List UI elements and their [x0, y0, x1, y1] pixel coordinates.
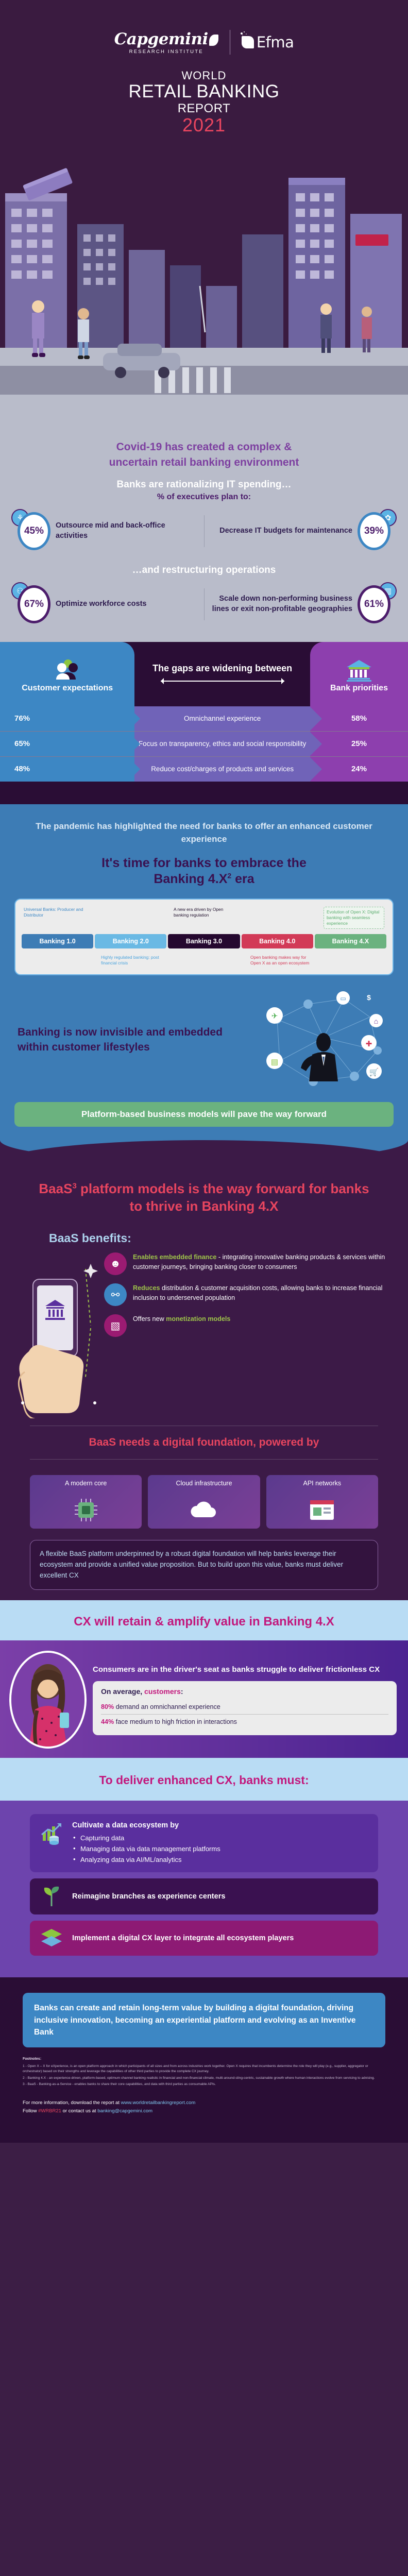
foundation-card-label: A modern core — [30, 1475, 142, 1492]
benefit-highlight: Reduces — [133, 1284, 160, 1292]
benefit-item: ☻ Enables embedded finance - integrating… — [104, 1252, 395, 1275]
growth-chart-icon — [38, 1821, 65, 1845]
stat-bubble: ⚘ 45% — [18, 512, 50, 550]
svg-text:▭: ▭ — [340, 995, 346, 1002]
action-card-body: Reimagine branches as experience centers — [72, 1891, 370, 1902]
foundation-cards: A modern core Cloud infrastructure API n… — [0, 1467, 408, 1529]
benefit-text: Offers new monetization models — [133, 1314, 230, 1324]
gap-label: Omnichannel experience — [134, 706, 310, 731]
cx-card-heading: On average, customers: — [101, 1687, 388, 1696]
evolution-segment-2: Banking 2.0 — [95, 934, 166, 948]
people-group-icon — [54, 658, 81, 682]
action-card-heading: Reimagine branches as experience centers — [72, 1891, 370, 1902]
customer-expectations-header: Customer expectations — [0, 642, 134, 706]
conclusion-section: Banks can create and retain long-term va… — [0, 1977, 408, 2142]
evolution-segment-5: Banking 4.X — [315, 934, 386, 948]
cx-actions-section: Cultivate a data ecosystem by Capturing … — [0, 1801, 408, 1977]
chart-monitor-icon: ▧ — [104, 1314, 127, 1337]
capgemini-logo: Capgemini RESEARCH INSTITUTE — [114, 30, 218, 55]
evolution-segment-1: Banking 1.0 — [22, 934, 93, 948]
banking4x-section: The pandemic has highlighted the need fo… — [0, 804, 408, 1140]
report-link[interactable]: www.worldretailbankingreport.com — [121, 2100, 196, 2106]
it-stats-row: ⚘ 45% Outsource mid and back-office acti… — [0, 509, 408, 553]
capgemini-leaf-icon — [209, 35, 218, 46]
gap-label: Focus on transparency, ethics and social… — [134, 732, 310, 756]
divider — [30, 1426, 378, 1426]
title-world: WORLD — [0, 69, 408, 82]
evolution-segment-4: Banking 4.0 — [242, 934, 313, 948]
stat-value: 61% — [358, 585, 390, 623]
gaps-bottom — [0, 782, 408, 804]
action-card-data-ecosystem[interactable]: Cultivate a data ecosystem by Capturing … — [30, 1814, 378, 1872]
foundation-card-modern-core[interactable]: A modern core — [30, 1475, 142, 1529]
hero-title-block: WORLD RETAIL BANKING REPORT 2021 — [0, 60, 408, 134]
exec-plan-label: % of executives plan to: — [0, 493, 408, 502]
benefit-prefix: Offers new — [133, 1315, 166, 1323]
action-card-heading: Implement a digital CX layer to integrat… — [72, 1933, 370, 1943]
foundation-card-label: API networks — [266, 1475, 378, 1492]
baas-body: ☻ Enables embedded finance - integrating… — [0, 1248, 408, 1418]
stat-bubble: ▥ 61% — [358, 585, 390, 623]
logo-bar: Capgemini RESEARCH INSTITUTE Efma — [0, 15, 408, 60]
stat-outsource: ⚘ 45% Outsource mid and back-office acti… — [18, 512, 199, 550]
capgemini-sub-label: RESEARCH INSTITUTE — [114, 49, 218, 55]
efma-logo: Efma — [242, 33, 294, 51]
foundation-card-api[interactable]: API networks — [266, 1475, 378, 1529]
cx-deliver-heading-wrap: To deliver enhanced CX, banks must: — [0, 1758, 408, 1801]
svg-text:⌂: ⌂ — [374, 1017, 378, 1025]
chip-icon — [30, 1492, 142, 1529]
sprout-icon — [38, 1886, 65, 1907]
baas-title: BaaS3 platform models is the way forward… — [0, 1162, 408, 1218]
stat-bubble: ✿ 39% — [358, 512, 390, 550]
stat-decrease-it: Decrease IT budgets for maintenance ✿ 39… — [210, 512, 391, 550]
footnote-item: 2 - Banking 4.X - an experience-driven, … — [23, 2076, 385, 2081]
footnotes-heading: Footnotes: — [23, 2057, 385, 2062]
cx-card-heading-accent: customers — [144, 1687, 181, 1696]
evolution-note: Evolution of Open X: Digital banking wit… — [324, 907, 384, 929]
title-report: REPORT — [0, 101, 408, 116]
baas-foundation-heading: BaaS needs a digital foundation, powered… — [0, 1433, 408, 1452]
network-people-icon: ⚯ — [104, 1283, 127, 1306]
benefit-text: Enables embedded finance - integrating i… — [133, 1252, 395, 1272]
action-bullet: Managing data via data management platfo… — [72, 1844, 370, 1855]
lifestyle-network-illustration: ▭ $ ✈ ⌂ ✚ ▤ 🛒 — [257, 989, 390, 1092]
baas-benefits-list: ☻ Enables embedded finance - integrating… — [104, 1248, 395, 1418]
foundation-card-label: Cloud infrastructure — [148, 1475, 260, 1492]
efma-wordmark: Efma — [257, 33, 294, 51]
layers-icon — [38, 1928, 65, 1948]
stat-bubble: ⚇ 67% — [18, 585, 50, 623]
benefit-text: Reduces distribution & customer acquisit… — [133, 1283, 395, 1303]
stat-label: Optimize workforce costs — [56, 599, 146, 609]
email-link[interactable]: banking@capgemini.com — [97, 2108, 152, 2114]
gaps-section: Customer expectations The gaps are widen… — [0, 642, 408, 804]
customer-expectations-label: Customer expectations — [22, 683, 113, 693]
down-chevron-icon — [171, 782, 237, 802]
svg-text:$: $ — [367, 993, 371, 1002]
cx-consumer-panel: Consumers are in the driver's seat as ba… — [0, 1640, 408, 1758]
stat-divider — [204, 515, 205, 547]
banking-evolution-diagram: Universal Banks: Producer and Distributo… — [14, 899, 394, 975]
conclusion-banner: Banks can create and retain long-term va… — [23, 1993, 385, 2047]
cx-stats-card: On average, customers: 80% demand an omn… — [93, 1681, 397, 1735]
efma-mark-icon — [242, 36, 254, 48]
svg-text:▤: ▤ — [271, 1058, 278, 1066]
footer-line-1: For more information, download the repor… — [23, 2099, 385, 2107]
customer-value: 65% — [0, 732, 134, 756]
evolution-note: Universal Banks: Producer and Distributo… — [24, 907, 86, 918]
gap-label: Reduce cost/charges of products and serv… — [134, 757, 310, 782]
covid-heading: Covid-19 has created a complex & uncerta… — [0, 432, 408, 474]
footer-block: For more information, download the repor… — [0, 2092, 408, 2131]
flexible-baas-note: A flexible BaaS platform underpinned by … — [30, 1540, 378, 1590]
table-row: 76% Omnichannel experience 58% — [0, 706, 408, 731]
benefit-item: ▧ Offers new monetization models — [104, 1314, 395, 1337]
it-spending-heading: Banks are rationalizing IT spending… — [0, 479, 408, 490]
action-card-body: Cultivate a data ecosystem by Capturing … — [72, 1821, 370, 1865]
bank-value: 25% — [310, 732, 408, 756]
bank-priorities-header: Bank priorities — [310, 642, 408, 706]
divider — [30, 1459, 378, 1460]
hand-phone-illustration — [13, 1248, 101, 1418]
footnotes-block: Footnotes: 1 - Open X – X for eXperience… — [0, 2047, 408, 2092]
section-curve-divider — [0, 1140, 408, 1162]
table-row: 48% Reduce cost/charges of products and … — [0, 757, 408, 782]
title-year: 2021 — [0, 116, 408, 134]
footnote-item: 1 - Open X – X for eXperience, is an ope… — [23, 2064, 385, 2074]
cx-content: Consumers are in the driver's seat as ba… — [93, 1664, 408, 1735]
platform-models-banner: Platform-based business models will pave… — [14, 1102, 394, 1127]
baas-title-rest: platform models is the way forward for b… — [77, 1181, 369, 1214]
double-arrow-icon — [152, 677, 292, 685]
capgemini-wordmark: Capgemini — [114, 30, 208, 48]
stat-scale-down: Scale down non-performing business lines… — [210, 585, 391, 623]
bank-building-icon — [346, 658, 372, 682]
svg-text:✈: ✈ — [271, 1012, 278, 1021]
action-bullet: Capturing data — [72, 1833, 370, 1844]
hashtag: #WRBR21 — [38, 2108, 61, 2114]
foundation-card-cloud[interactable]: Cloud infrastructure — [148, 1475, 260, 1529]
stat-value: 67% — [18, 585, 50, 623]
gaps-header: Customer expectations The gaps are widen… — [0, 642, 408, 706]
table-row: 65% Focus on transparency, ethics and so… — [0, 732, 408, 756]
benefit-highlight: Enables embedded finance — [133, 1253, 216, 1261]
stat-divider — [204, 588, 205, 620]
benefit-rest: distribution & customer acquisition cost… — [133, 1284, 382, 1301]
stat-label: Scale down non-performing business lines… — [210, 594, 353, 614]
evolution-note: Open banking makes way for Open X as an … — [250, 955, 317, 966]
evolution-segment-3: Banking 3.0 — [168, 934, 240, 948]
title-main: RETAIL BANKING — [0, 82, 408, 101]
cx-stat-value: 44% — [101, 1718, 114, 1725]
customer-support-icon: ☻ — [104, 1252, 127, 1275]
svg-text:✚: ✚ — [366, 1040, 372, 1048]
infographic-page: Capgemini RESEARCH INSTITUTE Efma WORLD … — [0, 0, 408, 2143]
hero-section: Capgemini RESEARCH INSTITUTE Efma WORLD … — [0, 0, 408, 430]
stat-label: Decrease IT budgets for maintenance — [219, 526, 352, 536]
stat-workforce: ⚇ 67% Optimize workforce costs — [18, 585, 199, 623]
cx-lead-text: Consumers are in the driver's seat as ba… — [93, 1664, 397, 1675]
action-bullet: Analyzing data via AI/ML/analytics — [72, 1855, 370, 1866]
invisible-banking-row: Banking is now invisible and embedded wi… — [0, 975, 408, 1092]
benefit-item: ⚯ Reduces distribution & customer acquis… — [104, 1283, 395, 1306]
customer-value: 48% — [0, 757, 134, 782]
gap-rows: 76% Omnichannel experience 58% 65% Focus… — [0, 706, 408, 782]
stat-value: 39% — [358, 512, 390, 550]
gaps-middle: The gaps are widening between — [134, 642, 310, 706]
evolution-note: A new era driven by Open banking regulat… — [174, 907, 235, 918]
baas-title-prefix: BaaS — [39, 1181, 72, 1196]
avatar — [9, 1651, 87, 1749]
action-card-cx-layer[interactable]: Implement a digital CX layer to integrat… — [30, 1921, 378, 1956]
customer-value: 76% — [0, 706, 134, 731]
logo-divider — [230, 30, 230, 55]
cx-section: CX will retain & amplify value in Bankin… — [0, 1600, 408, 1801]
banking4x-title-suffix: era — [231, 872, 254, 886]
bank-priorities-label: Bank priorities — [330, 683, 388, 693]
evolution-bar: Banking 1.0 Banking 2.0 Banking 3.0 Bank… — [22, 934, 386, 948]
benefit-highlight: monetization models — [166, 1315, 230, 1323]
banking4x-title: It's time for banks to embrace the Banki… — [0, 846, 408, 888]
cx-stat-text: demand an omnichannel experience — [114, 1703, 220, 1710]
svg-text:🛒: 🛒 — [369, 1067, 379, 1077]
cx-deliver-heading: To deliver enhanced CX, banks must: — [0, 1773, 408, 1787]
stat-label: Outsource mid and back-office activities — [56, 521, 199, 541]
action-card-heading: Cultivate a data ecosystem by — [72, 1821, 370, 1829]
cx-stat-text: face medium to high friction in interact… — [114, 1718, 237, 1725]
evolution-note: Highly regulated banking: post financial… — [101, 955, 168, 966]
action-card-body: Implement a digital CX layer to integrat… — [72, 1933, 370, 1943]
invisible-banking-title: Banking is now invisible and embedded wi… — [18, 1025, 251, 1055]
baas-benefits-heading: BaaS benefits: — [0, 1218, 408, 1248]
bank-value: 24% — [310, 757, 408, 782]
pandemic-kicker: The pandemic has highlighted the need fo… — [0, 820, 408, 846]
banking4x-title-line2: Banking 4.X — [154, 872, 227, 886]
api-window-icon — [266, 1492, 378, 1529]
gaps-title: The gaps are widening between — [152, 663, 292, 674]
cx-stat-row: 80% demand an omnichannel experience — [101, 1700, 388, 1714]
footnote-item: 3 - BaaS - Banking-as-a-Service - enable… — [23, 2082, 385, 2087]
bank-value: 58% — [310, 706, 408, 731]
stat-value: 45% — [18, 512, 50, 550]
footer-line-2: Follow #WRBR21 or contact us at banking@… — [23, 2107, 385, 2115]
footnote-ref-3: 3 — [72, 1181, 76, 1190]
cx-title: CX will retain & amplify value in Bankin… — [0, 1615, 408, 1640]
evolution-bottom-notes: Highly regulated banking: post financial… — [22, 948, 386, 966]
restructuring-heading: …and restructuring operations — [0, 565, 408, 576]
ops-stats-row: ⚇ 67% Optimize workforce costs Scale dow… — [0, 582, 408, 626]
action-card-branches[interactable]: Reimagine branches as experience centers — [30, 1878, 378, 1914]
evolution-top-notes: Universal Banks: Producer and Distributo… — [22, 907, 386, 929]
covid-section: Covid-19 has created a complex & uncerta… — [0, 430, 408, 642]
cloud-icon — [148, 1492, 260, 1529]
cityscape-illustration — [0, 131, 408, 430]
cx-stat-row: 44% face medium to high friction in inte… — [101, 1714, 388, 1729]
baas-section: BaaS3 platform models is the way forward… — [0, 1140, 408, 1600]
cx-stat-value: 80% — [101, 1703, 114, 1710]
